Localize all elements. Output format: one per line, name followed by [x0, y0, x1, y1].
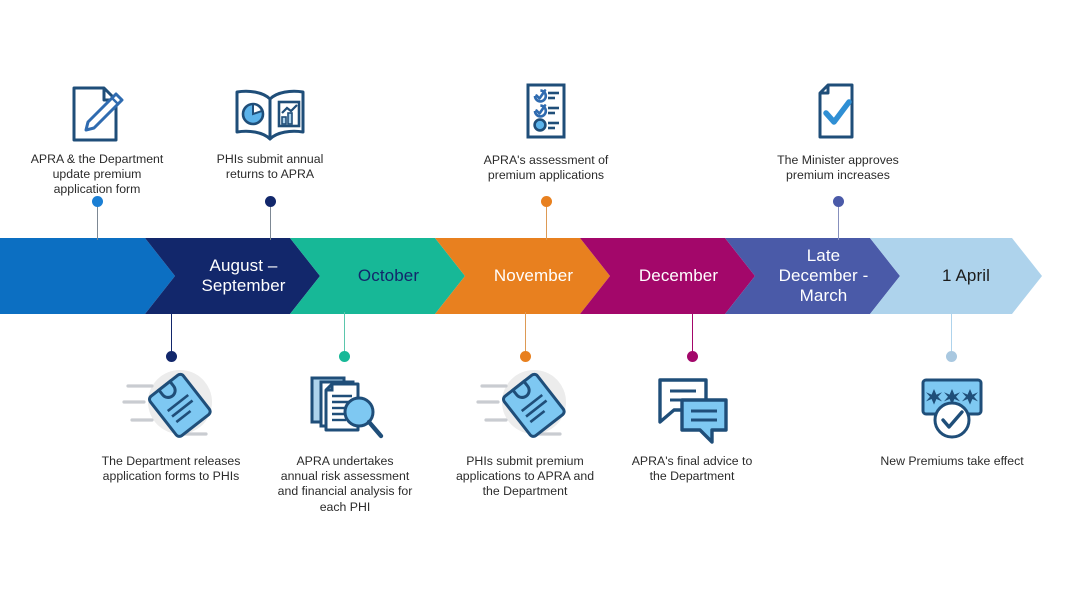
speech-bubbles-icon-wrap	[613, 368, 771, 444]
connector-stem-apra-assessment	[546, 205, 547, 240]
sending-document-icon-wrap	[86, 368, 256, 444]
timeline-segment-label: 1 April	[922, 266, 990, 286]
callout-apra-assessment[interactable]: APRA's assessment of premium application…	[466, 82, 626, 183]
document-check-icon-wrap	[758, 82, 918, 144]
callout-caption: APRA's assessment of premium application…	[466, 153, 626, 183]
connector-stem-minister-approves	[838, 205, 839, 240]
callout-caption: PHIs submit annual returns to APRA	[190, 152, 350, 182]
open-book-charts-icon	[231, 86, 309, 144]
connector-dot-minister-approves	[833, 196, 844, 207]
callout-caption: PHIs submit premium applications to APRA…	[444, 454, 606, 500]
connector-stem-risk-assessment	[344, 312, 345, 356]
callout-final-advice[interactable]: APRA's final advice to the Department	[613, 368, 771, 484]
timeline-diagram: August – September October November Dece…	[0, 0, 1084, 610]
stars-approved-icon	[915, 372, 989, 444]
callout-minister-approves[interactable]: The Minister approves premium increases	[758, 82, 918, 183]
connector-dot-apra-assessment	[541, 196, 552, 207]
connector-stem-new-premiums	[951, 312, 952, 356]
connector-dot-risk-assessment	[339, 351, 350, 362]
callout-caption: The Department releases application form…	[86, 454, 256, 484]
callout-caption: APRA undertakes annual risk assessment a…	[266, 454, 424, 515]
timeline-segment-label: December	[617, 266, 718, 286]
connector-dot-update-form	[92, 196, 103, 207]
timeline-segment-label: Late December - March	[757, 246, 869, 306]
document-check-icon	[812, 82, 864, 144]
sending-document-icon	[476, 368, 574, 444]
connector-stem-release-forms	[171, 312, 172, 356]
connector-dot-new-premiums	[946, 351, 957, 362]
connector-dot-release-forms	[166, 351, 177, 362]
callout-caption: APRA & the Department update premium app…	[12, 152, 182, 198]
callout-caption: APRA's final advice to the Department	[613, 454, 771, 484]
document-pencil-icon	[66, 84, 128, 144]
connector-dot-annual-returns	[265, 196, 276, 207]
timeline-segment-label: August – September	[179, 256, 285, 296]
speech-bubbles-icon	[652, 372, 732, 444]
documents-search-icon-wrap	[266, 368, 424, 444]
connector-stem-annual-returns	[270, 205, 271, 240]
callout-submit-premium[interactable]: PHIs submit premium applications to APRA…	[444, 368, 606, 500]
checklist-icon-wrap	[466, 82, 626, 144]
callout-new-premiums[interactable]: New Premiums take effect	[872, 368, 1032, 469]
connector-stem-update-form	[97, 205, 98, 240]
checklist-icon	[519, 82, 573, 144]
timeline-bar: August – September October November Dece…	[0, 238, 1084, 314]
documents-search-icon	[302, 370, 388, 444]
callout-caption: The Minister approves premium increases	[758, 153, 918, 183]
callout-caption: New Premiums take effect	[872, 454, 1032, 469]
connector-dot-final-advice	[687, 351, 698, 362]
timeline-segment-initial[interactable]	[0, 238, 175, 314]
callout-annual-returns[interactable]: PHIs submit annual returns to APRA	[190, 82, 350, 182]
connector-dot-submit-premium	[520, 351, 531, 362]
timeline-segment-label: November	[472, 266, 573, 286]
sending-document-icon-wrap	[444, 368, 606, 444]
connector-stem-submit-premium	[525, 312, 526, 356]
timeline-segment-label: October	[336, 266, 419, 286]
document-pencil-icon-wrap	[12, 82, 182, 144]
connector-stem-final-advice	[692, 312, 693, 356]
callout-risk-assessment[interactable]: APRA undertakes annual risk assessment a…	[266, 368, 424, 515]
stars-approved-icon-wrap	[872, 368, 1032, 444]
open-book-charts-icon-wrap	[190, 82, 350, 144]
callout-update-form[interactable]: APRA & the Department update premium app…	[12, 82, 182, 198]
callout-release-forms[interactable]: The Department releases application form…	[86, 368, 256, 484]
sending-document-icon	[122, 368, 220, 444]
